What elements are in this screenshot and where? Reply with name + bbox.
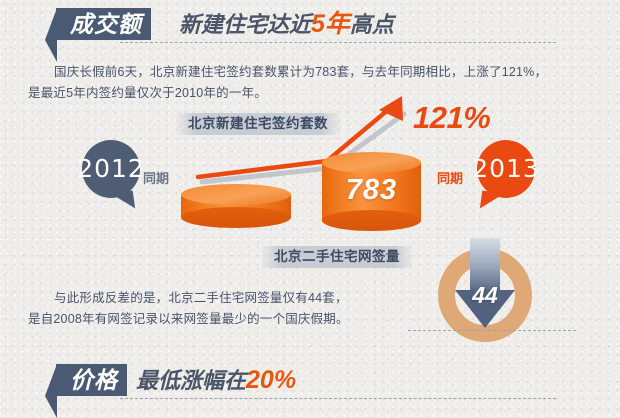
bar-2013-value: 783 <box>322 174 421 207</box>
headline-highlight: 5年 <box>311 10 350 38</box>
divider-middle <box>408 330 576 331</box>
headline-text-before: 新建住宅达近 <box>179 12 311 37</box>
paragraph-first-line2: 是最近5年内签约量仅次于2010年的一年。 <box>28 86 267 100</box>
section-headline-top: 新建住宅达近5年高点 <box>179 9 394 40</box>
paragraph-second-line2: 是自2008年有网签记录以来网签量最少的一个国庆假期。 <box>28 312 349 326</box>
bubble-2013-label: 2013 <box>472 154 540 183</box>
bubble-2012-label: 2012 <box>77 154 145 183</box>
bubble-2013-pointer <box>480 191 504 212</box>
paragraph-first: 国庆长假前6天，北京新建住宅签约套数累计为783套，与去年同期相比，上涨了121… <box>28 62 598 104</box>
chart1-title: 北京新建住宅签约套数 <box>176 113 340 135</box>
paragraph-second-line1: 与此形成反差的是，北京二手住宅网签量仅有44套， <box>28 288 428 309</box>
bar-2013: 783 <box>322 152 421 231</box>
section-tag-bottom: 价格 <box>56 364 127 396</box>
bar-2013-top <box>322 152 421 173</box>
divider-bottom <box>120 398 556 399</box>
section-tag-top: 成交额 <box>56 8 151 40</box>
infographic-canvas: 成交额 新建住宅达近5年高点 国庆长假前6天，北京新建住宅签约套数累计为783套… <box>0 0 620 418</box>
chart2-title: 北京二手住宅网签量 <box>262 246 412 268</box>
bar-2013-base <box>322 210 421 231</box>
bubble-2012-period: 同期 <box>143 168 169 187</box>
bubble-2013: 2013 <box>477 140 535 198</box>
headline-text-after: 高点 <box>350 12 394 37</box>
bar-2012-base <box>181 207 291 228</box>
paragraph-second: 与此形成反差的是，北京二手住宅网签量仅有44套， 是自2008年有网签记录以来网… <box>28 288 428 330</box>
ring-value: 44 <box>455 282 515 309</box>
divider-top <box>120 42 556 43</box>
section-tag-tail-top <box>45 40 57 62</box>
section-tag-tail-bottom <box>45 396 57 418</box>
bar-2012 <box>181 184 291 228</box>
bubble-2012: 2012 <box>82 140 140 198</box>
bubble-2012-pointer <box>111 191 135 212</box>
headline-bottom-highlight: 20% <box>246 366 296 394</box>
paragraph-first-line1: 国庆长假前6天，北京新建住宅签约套数累计为783套，与去年同期相比，上涨了121… <box>28 62 598 83</box>
decline-arrow-icon: 44 <box>455 238 515 328</box>
growth-percentage: 121% <box>413 100 490 136</box>
bubble-2013-period: 同期 <box>437 168 463 187</box>
bar-2012-top <box>181 184 291 205</box>
section-headline-bottom: 最低涨幅在20% <box>136 365 296 396</box>
headline-bottom-text-before: 最低涨幅在 <box>136 368 246 393</box>
